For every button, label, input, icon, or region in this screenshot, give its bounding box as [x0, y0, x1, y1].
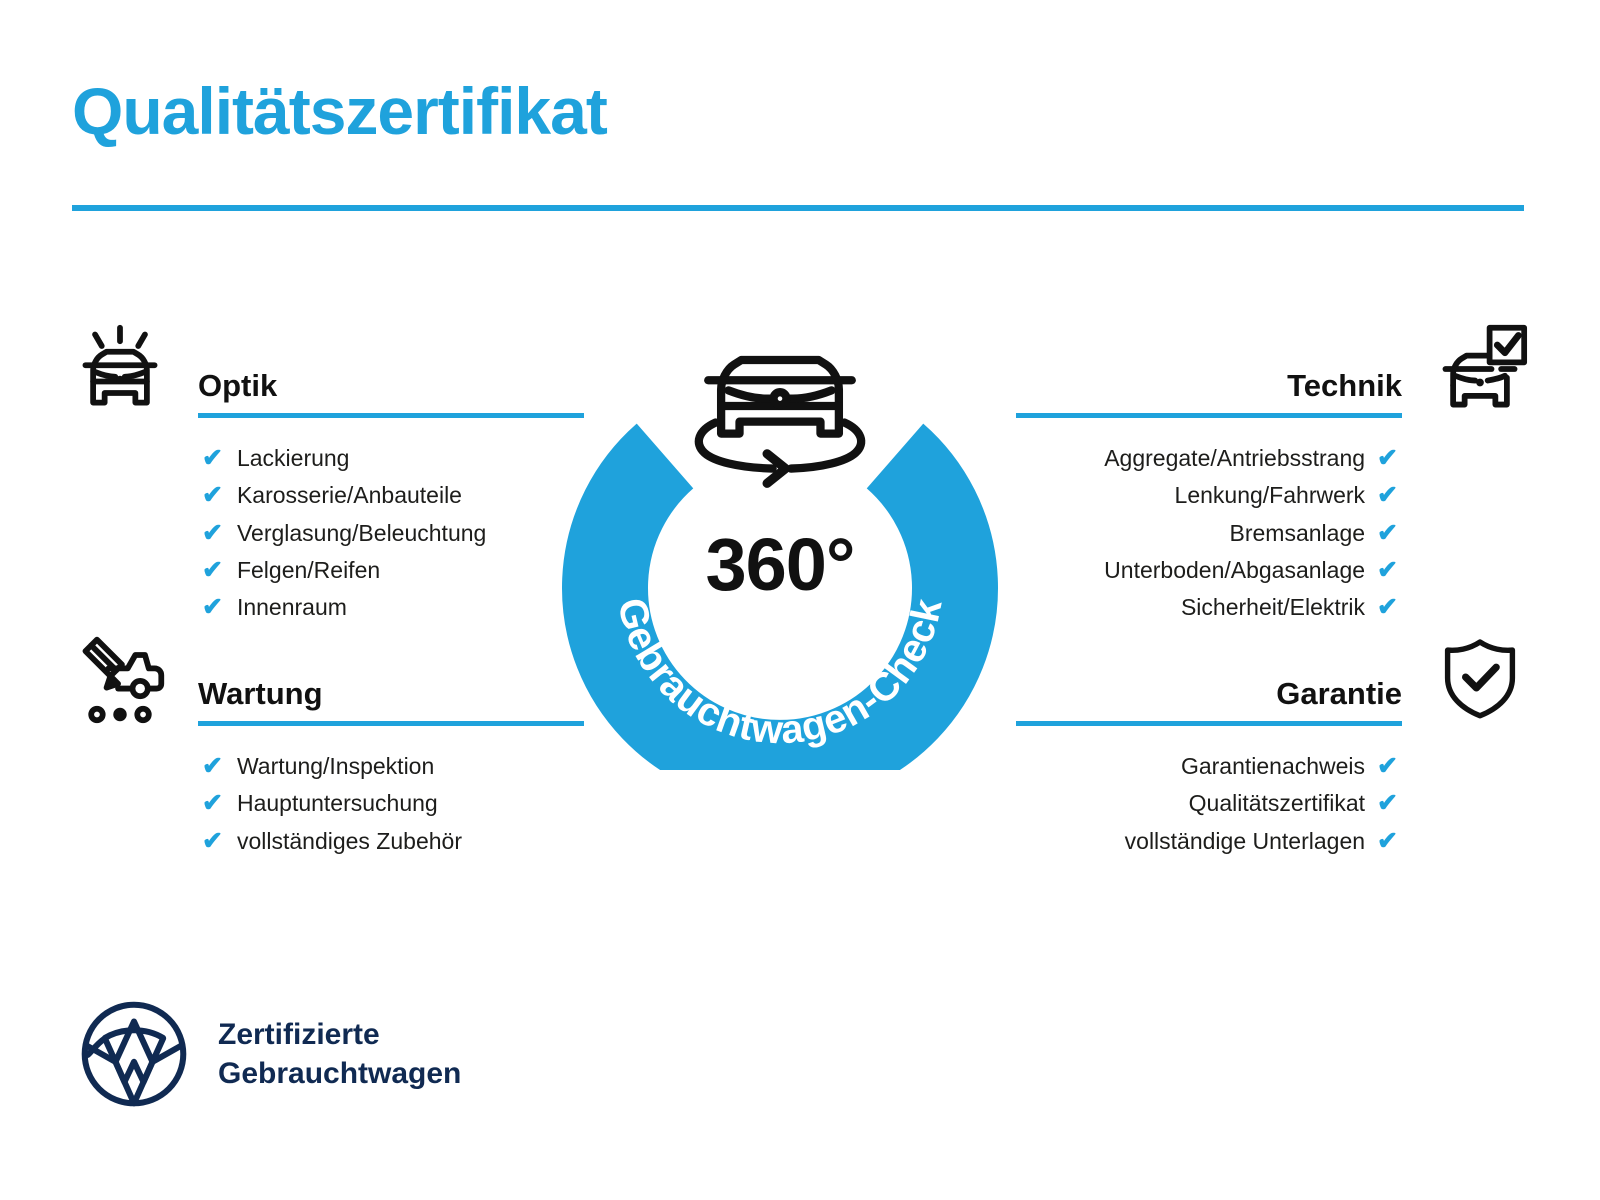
list-item: ✔Lackierung	[202, 440, 584, 477]
car-rotate-360-icon	[699, 360, 861, 483]
list-item: ✔Aggregate/Antriebsstrang	[1016, 440, 1398, 477]
footer-brand-line2: Gebrauchtwagen	[218, 1054, 461, 1093]
list-item-label: Verglasung/Beleuchtung	[237, 515, 486, 552]
check-icon: ✔	[202, 791, 223, 816]
list-item-label: Lenkung/Fahrwerk	[1175, 477, 1366, 514]
check-icon: ✔	[202, 446, 223, 471]
page-title: Qualitätszertifikat	[72, 78, 607, 144]
check-icon: ✔	[1377, 558, 1398, 583]
list-item-label: Bremsanlage	[1230, 515, 1366, 552]
list-item-label: Lackierung	[237, 440, 350, 477]
list-item: ✔Lenkung/Fahrwerk	[1016, 477, 1398, 514]
technik-list: ✔Aggregate/Antriebsstrang ✔Lenkung/Fahrw…	[1016, 418, 1528, 626]
section-technik-rule	[1016, 413, 1402, 418]
list-item-label: Wartung/Inspektion	[237, 748, 434, 785]
section-optik: Optik ✔Lackierung ✔Karosserie/Anbauteile…	[72, 322, 584, 626]
list-item-label: vollständiges Zubehör	[237, 823, 462, 860]
list-item-label: Felgen/Reifen	[237, 552, 380, 589]
section-wartung-header: Wartung	[72, 630, 584, 726]
list-item: ✔Sicherheit/Elektrik	[1016, 589, 1398, 626]
list-item-label: Unterboden/Abgasanlage	[1104, 552, 1365, 589]
section-wartung: Wartung ✔Wartung/Inspektion ✔Hauptunters…	[72, 630, 584, 860]
check-icon: ✔	[1377, 791, 1398, 816]
pencil-car-service-icon	[72, 630, 168, 726]
list-item: ✔vollständiges Zubehör	[202, 823, 584, 860]
list-item: ✔Karosserie/Anbauteile	[202, 477, 584, 514]
list-item: ✔Qualitätszertifikat	[1016, 785, 1398, 822]
list-item-label: Qualitätszertifikat	[1189, 785, 1365, 822]
shield-check-icon	[1432, 630, 1528, 726]
list-item: ✔Garantienachweis	[1016, 748, 1398, 785]
title-divider	[72, 205, 1524, 211]
check-icon: ✔	[202, 558, 223, 583]
section-technik: Technik ✔Aggregate/Antriebsstrang ✔Lenku…	[1016, 322, 1528, 626]
list-item: ✔Unterboden/Abgasanlage	[1016, 552, 1398, 589]
list-item: ✔Felgen/Reifen	[202, 552, 584, 589]
check-icon: ✔	[1377, 483, 1398, 508]
section-garantie-rule	[1016, 721, 1402, 726]
list-item: ✔Hauptuntersuchung	[202, 785, 584, 822]
check-icon: ✔	[1377, 595, 1398, 620]
list-item: ✔Wartung/Inspektion	[202, 748, 584, 785]
list-item-label: Aggregate/Antriebsstrang	[1104, 440, 1365, 477]
optik-list: ✔Lackierung ✔Karosserie/Anbauteile ✔Verg…	[72, 418, 584, 626]
section-wartung-rule	[198, 721, 584, 726]
section-garantie: Garantie ✔Garantienachweis ✔Qualitätszer…	[1016, 630, 1528, 860]
list-item: ✔Bremsanlage	[1016, 515, 1398, 552]
check-icon: ✔	[202, 754, 223, 779]
section-technik-title: Technik	[1016, 370, 1402, 413]
list-item-label: Garantienachweis	[1181, 748, 1365, 785]
footer-brand-line1: Zertifizierte	[218, 1015, 461, 1054]
section-optik-title: Optik	[198, 370, 584, 413]
footer-brand-text: Zertifizierte Gebrauchtwagen	[218, 1015, 461, 1093]
check-icon: ✔	[202, 829, 223, 854]
check-icon: ✔	[202, 521, 223, 546]
vw-logo-icon	[78, 998, 190, 1110]
section-garantie-header: Garantie	[1016, 630, 1528, 726]
car-front-checkbox-icon	[1432, 322, 1528, 418]
section-garantie-title: Garantie	[1016, 678, 1402, 721]
list-item-label: vollständige Unterlagen	[1125, 823, 1365, 860]
wartung-list: ✔Wartung/Inspektion ✔Hauptuntersuchung ✔…	[72, 726, 584, 860]
check-icon: ✔	[1377, 446, 1398, 471]
garantie-list: ✔Garantienachweis ✔Qualitätszertifikat ✔…	[1016, 726, 1528, 860]
list-item: ✔Verglasung/Beleuchtung	[202, 515, 584, 552]
list-item: ✔vollständige Unterlagen	[1016, 823, 1398, 860]
footer-brand: Zertifizierte Gebrauchtwagen	[78, 998, 461, 1110]
list-item-label: Sicherheit/Elektrik	[1181, 589, 1365, 626]
check-icon: ✔	[1377, 754, 1398, 779]
section-technik-header: Technik	[1016, 322, 1528, 418]
section-optik-rule	[198, 413, 584, 418]
check-icon: ✔	[1377, 829, 1398, 854]
check-icon: ✔	[202, 483, 223, 508]
list-item-label: Innenraum	[237, 589, 347, 626]
car-front-sparkle-icon	[72, 322, 168, 418]
list-item: ✔Innenraum	[202, 589, 584, 626]
list-item-label: Hauptuntersuchung	[237, 785, 438, 822]
section-wartung-title: Wartung	[198, 678, 584, 721]
badge-360-gebrauchtwagen-check: Gebrauchtwagen-Check 360°	[560, 300, 1000, 770]
check-icon: ✔	[202, 595, 223, 620]
list-item-label: Karosserie/Anbauteile	[237, 477, 462, 514]
section-optik-header: Optik	[72, 322, 584, 418]
badge-center-label: 360°	[560, 528, 1000, 602]
check-icon: ✔	[1377, 521, 1398, 546]
